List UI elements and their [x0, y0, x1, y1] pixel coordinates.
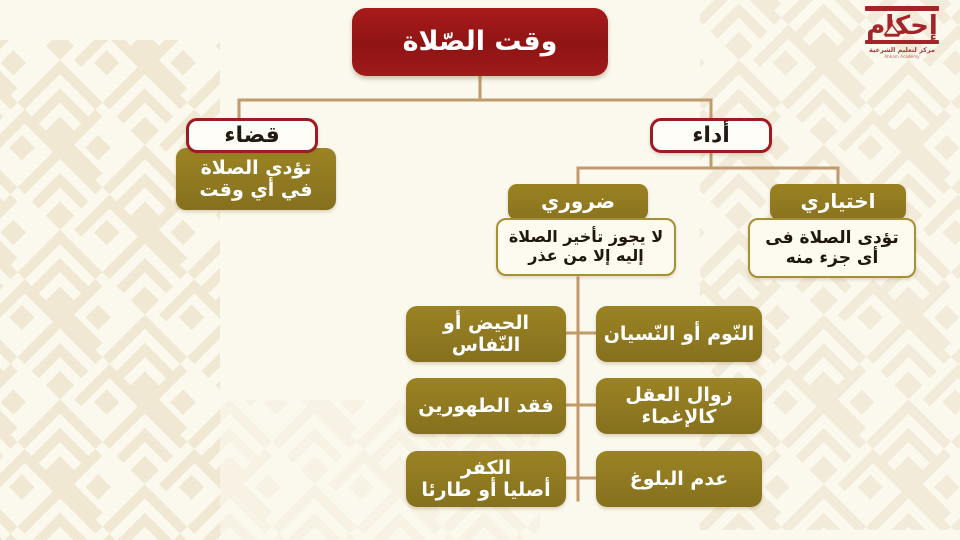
cause-box-right-3[interactable]: عدم البلوغ [596, 451, 762, 507]
root-node-prayer-time[interactable]: وقت الصّلاة [352, 8, 608, 76]
ikhtiyari-detail-box: تؤدى الصلاة فى أى جزء منه [748, 218, 916, 278]
subbranch-node-daruri[interactable]: ضروري [508, 184, 648, 220]
branch-node-ada[interactable]: أداء [650, 118, 772, 153]
cause-box-left-1[interactable]: الحيض أو النّفاس [406, 306, 566, 362]
lamp-icon [883, 20, 901, 40]
cause-box-left-2[interactable]: فقد الطهورين [406, 378, 566, 434]
logo-subtitle-latin: Ahkam Academy [884, 55, 919, 60]
logo-wordmark: إحكام [866, 13, 938, 39]
cause-box-left-3[interactable]: الكفر أصليا أو طارئا [406, 451, 566, 507]
daruri-detail-box: لا يجوز تأخير الصلاة إليه إلا من عذر [496, 218, 676, 276]
cause-box-right-2[interactable]: زوال العقل كالإغماء [596, 378, 762, 434]
branch-node-qada[interactable]: قضاء [186, 118, 318, 153]
cause-box-right-1[interactable]: النّوم أو النّسيان [596, 306, 762, 362]
subbranch-node-ikhtiyari[interactable]: اختياري [770, 184, 906, 220]
qada-detail-box: تؤدى الصلاة في أي وقت [176, 148, 336, 210]
logo-bottom-bar [865, 40, 939, 44]
brand-logo: إحكام مركز لتعليم الشرعية Ahkam Academy [852, 6, 952, 84]
logo-subtitle: مركز لتعليم الشرعية [869, 47, 935, 54]
